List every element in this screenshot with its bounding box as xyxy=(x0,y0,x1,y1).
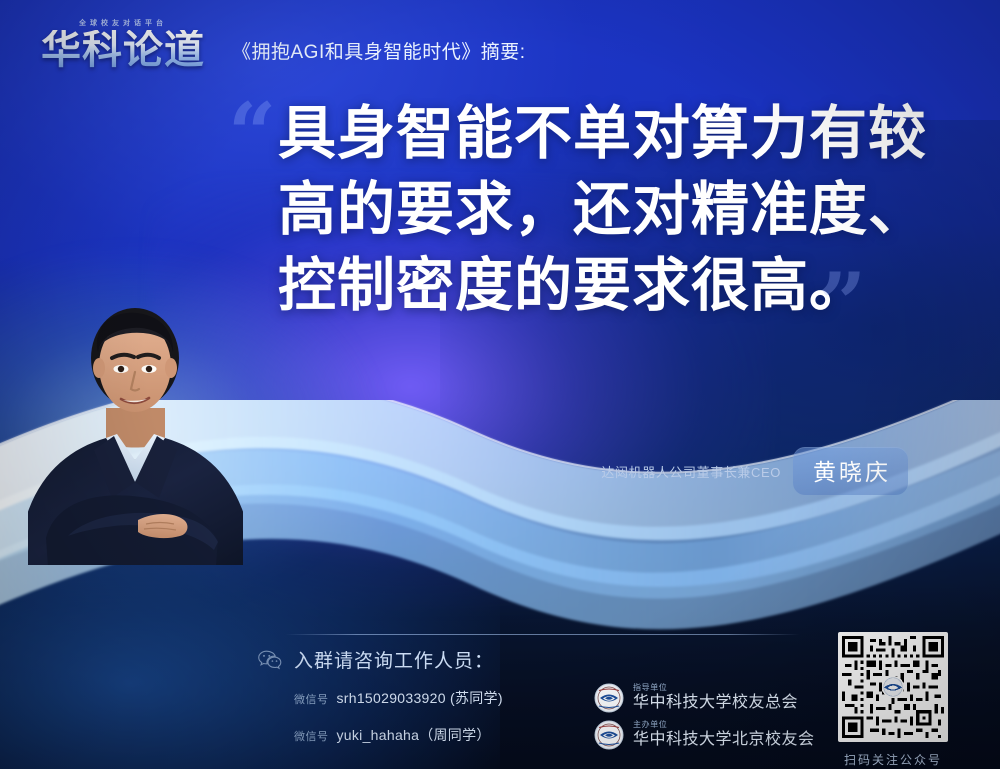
page-title: 《拥抱AGI和具身智能时代》摘要: xyxy=(232,37,526,70)
org-name: 华中科技大学校友总会 xyxy=(633,695,798,712)
org-item: 主办单位 华中科技大学北京校友会 xyxy=(594,720,815,750)
contact-item: 微信号 yuki_hahaha（周同学） xyxy=(258,725,594,745)
org-kind: 指导单位 xyxy=(633,684,798,692)
org-text: 主办单位 华中科技大学北京校友会 xyxy=(633,721,815,748)
footer-divider xyxy=(285,634,800,635)
contact-value: srh15029033920 (苏同学) xyxy=(337,688,503,708)
brand-logo: 全球校友对话平台 华科论道 xyxy=(28,18,218,70)
brand-header: 全球校友对话平台 华科论道 《拥抱AGI和具身智能时代》摘要: xyxy=(28,18,526,70)
qr-section: 扫码关注公众号 xyxy=(834,632,952,768)
contact-item: 微信号 srh15029033920 (苏同学) xyxy=(258,688,594,708)
speaker-role: 达闼机器人公司董事长兼CEO xyxy=(601,462,781,481)
quote-close-icon: ” xyxy=(818,262,866,346)
contact-label: 微信号 xyxy=(294,728,329,744)
org-kind: 主办单位 xyxy=(633,721,815,729)
qr-caption: 扫码关注公众号 xyxy=(834,751,952,768)
speaker-name-badge: 黄晓庆 xyxy=(793,447,908,495)
qr-code[interactable] xyxy=(838,632,948,742)
contact-value: yuki_hahaha（周同学） xyxy=(337,725,491,745)
org-text: 指导单位 华中科技大学校友总会 xyxy=(633,684,798,711)
org-name: 华中科技大学北京校友会 xyxy=(633,732,815,749)
university-seal-icon xyxy=(594,683,624,713)
contact-label: 微信号 xyxy=(294,691,329,707)
brand-logo-text: 华科论道 xyxy=(28,30,218,70)
university-seal-icon xyxy=(594,720,624,750)
quote-line: 具身智能不单对算力有较 xyxy=(278,96,968,172)
speaker-portrait xyxy=(28,300,243,565)
footer-headline-text: 入群请咨询工作人员： xyxy=(294,646,494,673)
quote-line: 高的要求，还对精准度、 xyxy=(278,172,968,248)
wechat-icon xyxy=(258,650,282,670)
org-item: 指导单位 华中科技大学校友总会 xyxy=(594,683,798,713)
brand-tagline: 全球校友对话平台 xyxy=(28,18,218,28)
quote-open-icon: “ xyxy=(228,92,276,176)
speaker-attribution: 达闼机器人公司董事长兼CEO 黄晓庆 xyxy=(601,447,908,495)
poster-canvas: 全球校友对话平台 华科论道 《拥抱AGI和具身智能时代》摘要: “ 具身智能不单… xyxy=(0,0,1000,769)
